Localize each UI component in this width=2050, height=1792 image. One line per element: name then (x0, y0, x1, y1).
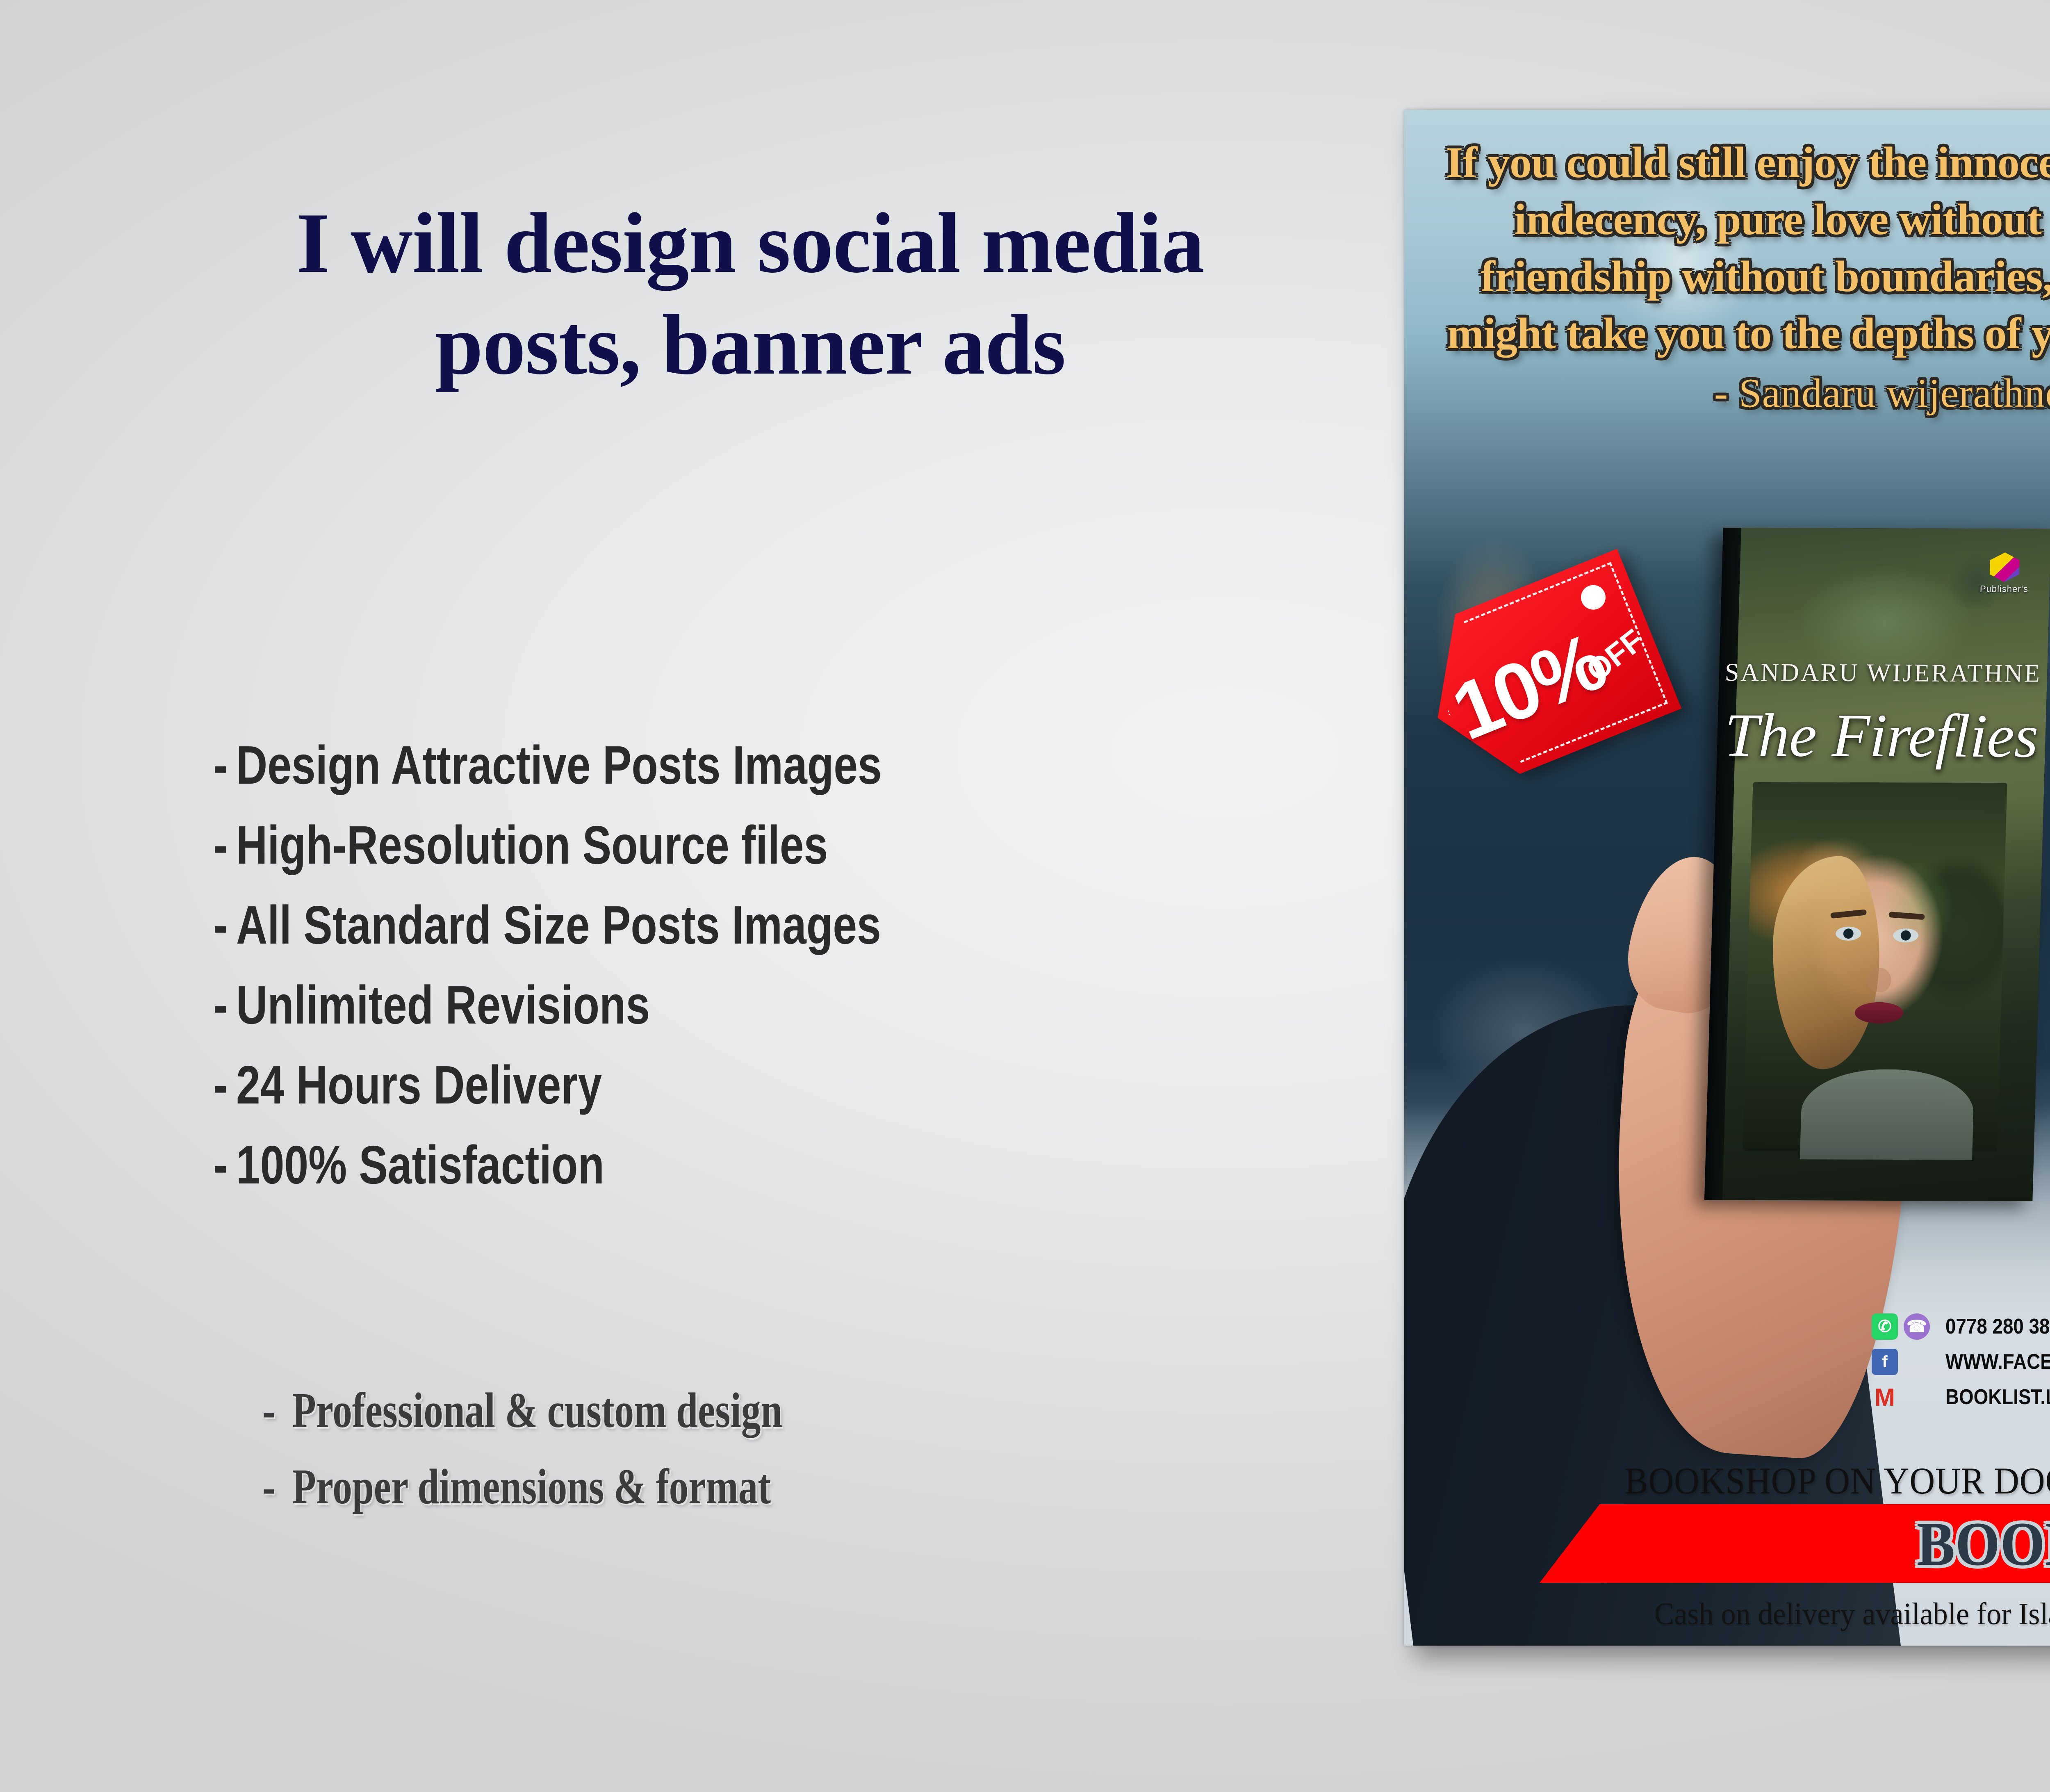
contact-row-phone: ✆ ☎ 0778 280 380 or 0717 280 380 (1872, 1313, 2050, 1340)
book-title: The Fireflies (1716, 700, 2046, 772)
email-address: BOOKLIST.LK2020@GMAIL.COM (1945, 1385, 2050, 1409)
list-item-label: Unlimited Revisions (236, 974, 650, 1036)
list-item-label: High-Resolution Source files (236, 814, 828, 876)
list-item: - Design Attractive Posts Images (213, 734, 1099, 796)
list-item-label: Design Attractive Posts Images (236, 734, 882, 796)
viber-icon: ☎ (1904, 1313, 1930, 1340)
messaging-icons: ✆ ☎ (1872, 1313, 1945, 1340)
brand-note: Cash on delivery available for Islandwid… (1429, 1596, 2050, 1632)
list-item-label: Professional & custom design (292, 1383, 783, 1438)
list-item-label: Proper dimensions & format (292, 1459, 771, 1514)
book-author-name: SANDARU WIJERATHNE (1719, 658, 2048, 689)
feature-list: - Design Attractive Posts Images - High-… (213, 734, 1320, 1214)
phone-primary: 0778 280 380 (1945, 1314, 2050, 1339)
list-item-label: 100% Satisfaction (236, 1134, 604, 1196)
bullet-dash: - (262, 1383, 276, 1438)
contact-row-email: M BOOKLIST.LK2020@GMAIL.COM (1872, 1384, 2050, 1410)
cube-icon (1989, 552, 2020, 582)
list-item: - All Standard Size Posts Images (213, 894, 1099, 956)
bullet-dash: - (213, 894, 228, 956)
list-item: - 100% Satisfaction (213, 1134, 1099, 1196)
bullet-dash: - (213, 814, 228, 876)
portrait-illustration (1742, 782, 2007, 1152)
facebook-url: WWW.FACEBOOK.COM/BOOKLIST.LK (1945, 1350, 2050, 1374)
facebook-icon: f (1872, 1349, 1898, 1375)
bullet-dash: - (213, 1054, 228, 1116)
brand-name: BOOKLIST.LK (1444, 1508, 2050, 1580)
quote-text: If you could still enjoy the innocent jo… (1446, 139, 2050, 358)
gmail-icon: M (1872, 1384, 1898, 1410)
book-cover: SANDARU WIJERATHNE The Fireflies Publish… (1704, 528, 2050, 1201)
lips-shape (1854, 1002, 1903, 1024)
list-item: - 24 Hours Delivery (213, 1054, 1099, 1116)
nose-shape (1867, 968, 1891, 992)
shirt-shape (1800, 1069, 1975, 1160)
contact-block: ✆ ☎ 0778 280 380 or 0717 280 380 f WWW.F… (1872, 1313, 2050, 1419)
publisher-label: Publisher's (1980, 584, 2029, 594)
bullet-dash: - (213, 974, 228, 1036)
bullet-dash: - (213, 734, 228, 796)
poster-preview: If you could still enjoy the innocent jo… (1404, 110, 2050, 1646)
whatsapp-icon: ✆ (1872, 1313, 1898, 1340)
hair-shape (1770, 856, 1882, 1069)
facebook-icon-wrap: f (1872, 1349, 1945, 1375)
gmail-icon-wrap: M (1872, 1384, 1945, 1410)
page-title: I will design social media posts, banner… (230, 193, 1271, 396)
left-marketing-column: I will design social media posts, banner… (0, 0, 1353, 1792)
subnote-list: - Professional & custom design - Proper … (262, 1382, 1287, 1534)
contact-row-facebook: f WWW.FACEBOOK.COM/BOOKLIST.LK (1872, 1349, 2050, 1375)
eyebrow-right (1888, 912, 1925, 920)
list-item: - High-Resolution Source files (213, 814, 1099, 876)
poster-quote: If you could still enjoy the innocent jo… (1427, 135, 2050, 420)
list-item: - Proper dimensions & format (262, 1458, 1062, 1516)
quote-author: - Sandaru wijerathne - (1427, 367, 2050, 420)
brand-tagline: BOOKSHOP ON YOUR DOORSTEP (1439, 1459, 2050, 1502)
list-item: - Professional & custom design (262, 1382, 1062, 1439)
list-item-label: All Standard Size Posts Images (236, 894, 881, 956)
bullet-dash: - (213, 1134, 228, 1196)
list-item: - Unlimited Revisions (213, 974, 1099, 1036)
publisher-logo: Publisher's (1980, 552, 2029, 594)
bullet-dash: - (262, 1459, 276, 1514)
list-item-label: 24 Hours Delivery (236, 1054, 602, 1116)
